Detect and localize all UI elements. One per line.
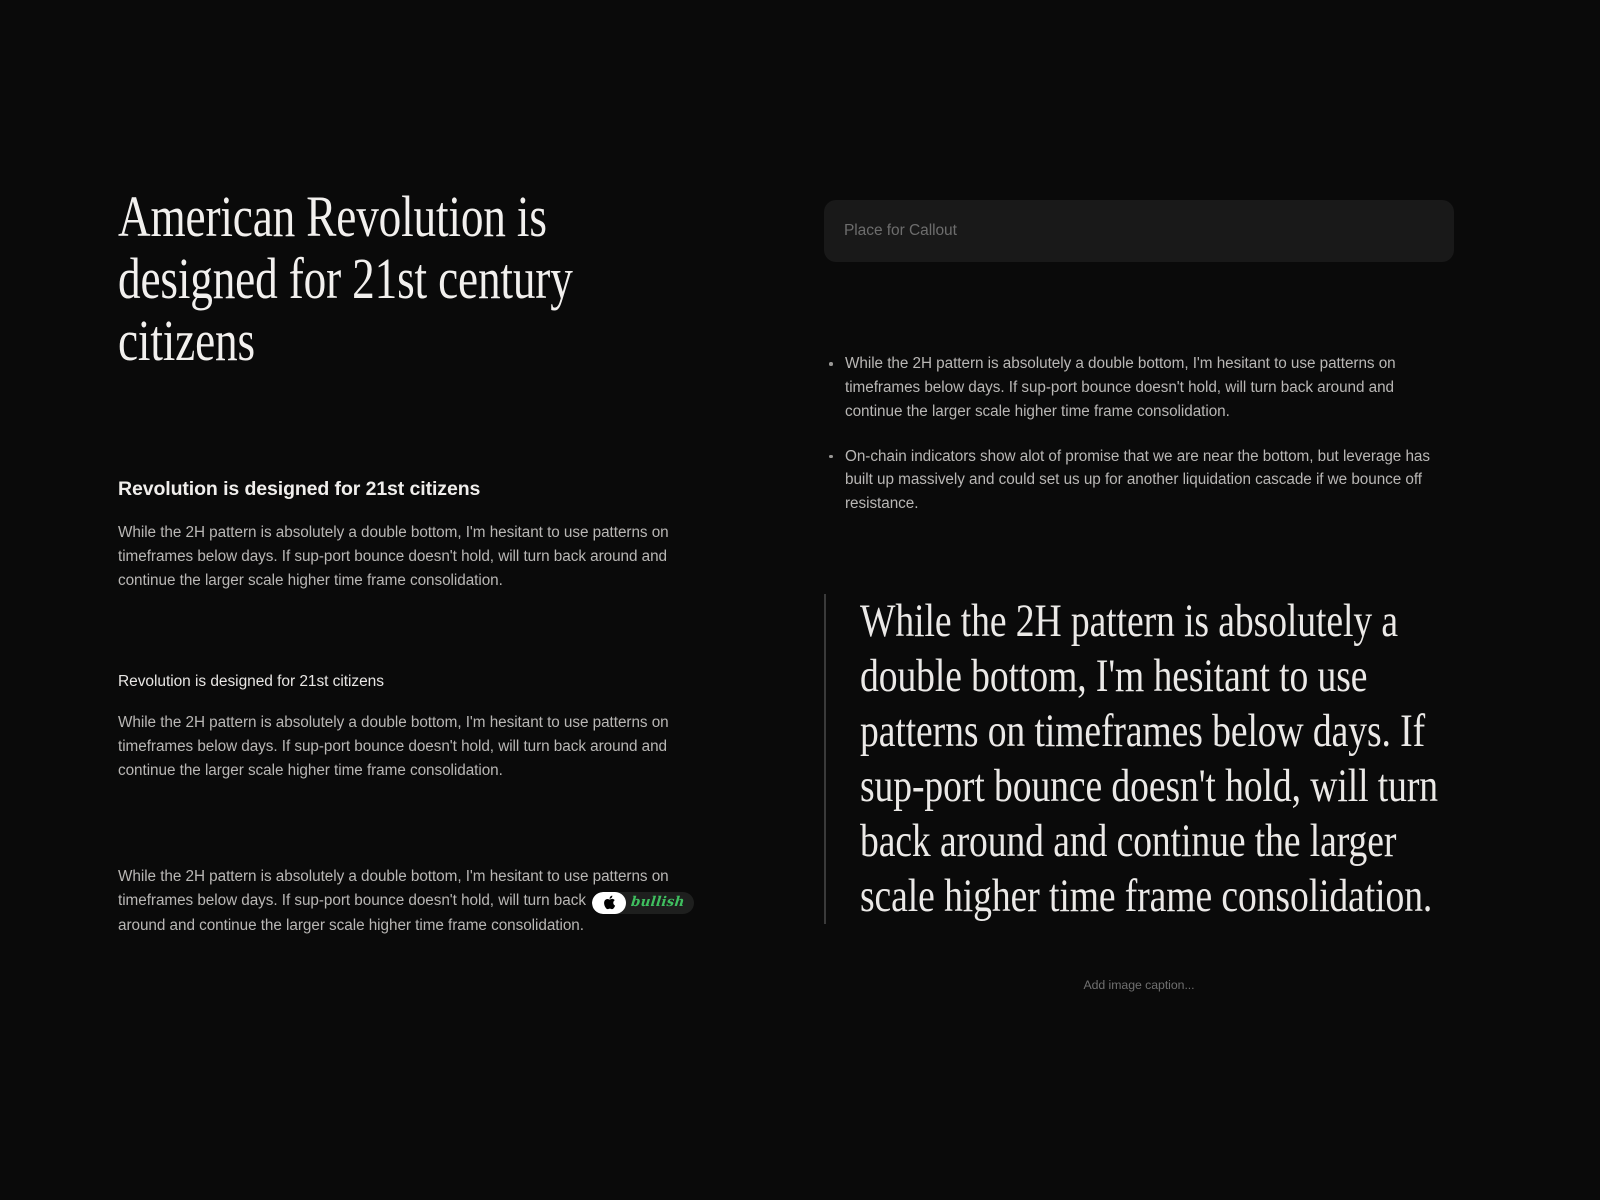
- callout-block[interactable]: Place for Callout: [824, 200, 1454, 262]
- paragraph-3-text-after: around and continue the larger scale hig…: [118, 917, 584, 934]
- body-paragraph-1[interactable]: While the 2H pattern is absolutely a dou…: [118, 521, 703, 593]
- two-column-layout: American Revolution is designed for 21st…: [0, 0, 1600, 992]
- editor-page: American Revolution is designed for 21st…: [0, 0, 1600, 1200]
- bullish-tag-label: bullish: [630, 892, 686, 913]
- body-paragraph-2[interactable]: While the 2H pattern is absolutely a dou…: [118, 711, 703, 783]
- sub-heading[interactable]: Revolution is designed for 21st citizens: [118, 673, 706, 691]
- left-column: American Revolution is designed for 21st…: [0, 0, 706, 938]
- list-item[interactable]: On-chain indicators show alot of promise…: [824, 445, 1454, 517]
- right-column: Place for Callout While the 2H pattern i…: [706, 0, 1600, 992]
- page-title[interactable]: American Revolution is designed for 21st…: [118, 186, 705, 372]
- bullet-list: While the 2H pattern is absolutely a dou…: [824, 352, 1454, 516]
- body-paragraph-3[interactable]: While the 2H pattern is absolutely a dou…: [118, 865, 703, 938]
- blockquote-text: While the 2H pattern is absolutely a dou…: [860, 594, 1454, 924]
- section-heading[interactable]: Revolution is designed for 21st citizens: [118, 478, 706, 501]
- blockquote-block[interactable]: While the 2H pattern is absolutely a dou…: [824, 594, 1454, 924]
- callout-placeholder-text: Place for Callout: [844, 222, 957, 240]
- image-caption-placeholder[interactable]: Add image caption...: [824, 978, 1454, 992]
- paragraph-3-text-before: While the 2H pattern is absolutely a dou…: [118, 868, 669, 909]
- apple-icon: [592, 892, 626, 914]
- bullish-tag-pill[interactable]: bullish: [592, 892, 693, 914]
- list-item[interactable]: While the 2H pattern is absolutely a dou…: [824, 352, 1454, 424]
